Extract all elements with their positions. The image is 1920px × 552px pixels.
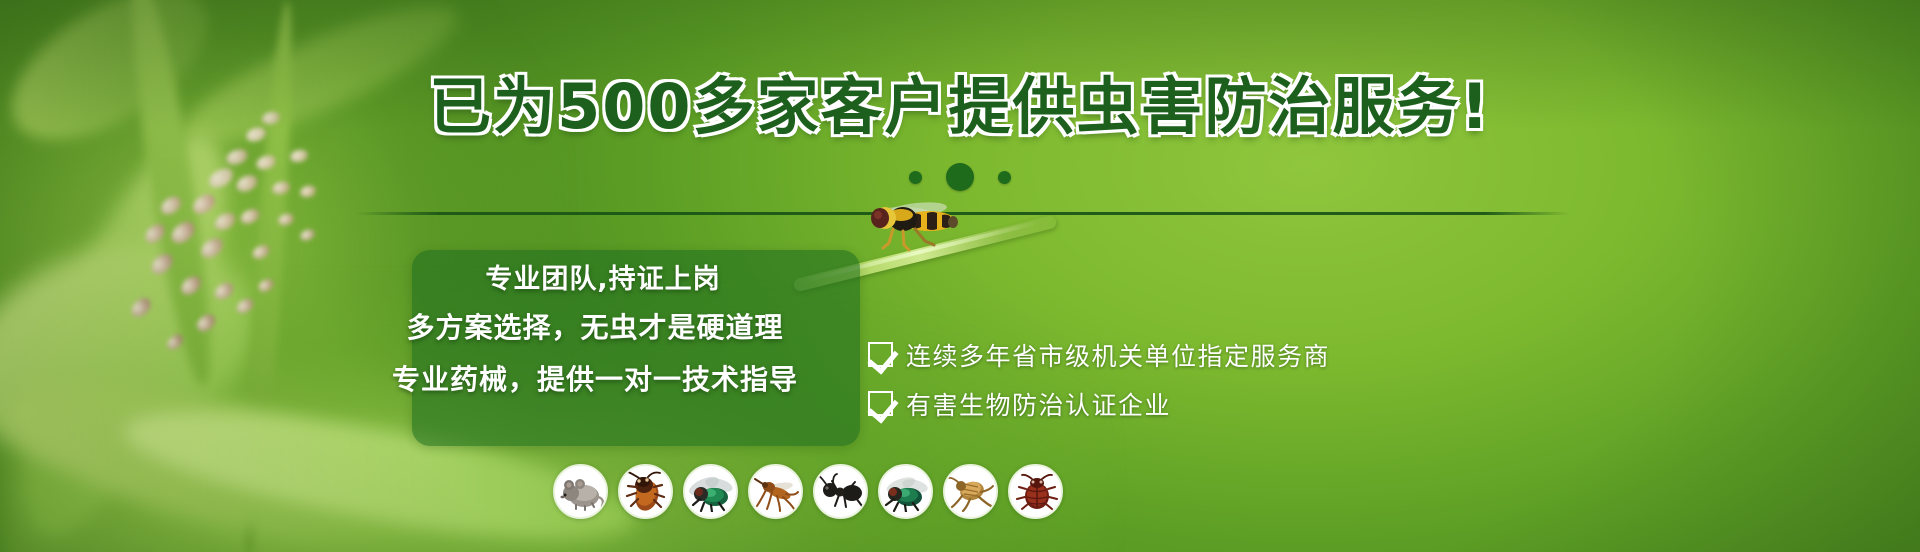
ant-icon[interactable] — [813, 464, 868, 519]
checkbox-checked-icon — [868, 342, 893, 367]
bedbug-icon[interactable] — [1008, 464, 1063, 519]
greenfly-icon[interactable] — [878, 464, 933, 519]
cockroach-icon[interactable] — [618, 464, 673, 519]
checklist-item-label: 有害生物防治认证企业 — [906, 386, 1171, 422]
flea-icon[interactable] — [943, 464, 998, 519]
hoverfly-icon — [845, 196, 965, 258]
dots-ornament — [0, 163, 1920, 191]
pest-icon-strip — [553, 464, 1063, 519]
checklist-item-label: 连续多年省市级机关单位指定服务商 — [906, 337, 1330, 373]
copy-line-1: 专业团队,持证上岗 — [346, 258, 860, 302]
checklist-item: 连续多年省市级机关单位指定服务商 — [868, 330, 1330, 379]
dot-small-icon — [909, 171, 922, 184]
checklist-item: 有害生物防治认证企业 — [868, 379, 1330, 428]
dot-small-icon — [998, 171, 1011, 184]
copy-line-3: 专业药械，提供一对一技术指导 — [330, 354, 860, 406]
mouse-icon[interactable] — [553, 464, 608, 519]
checkbox-checked-icon — [868, 391, 893, 416]
dot-large-icon — [946, 163, 974, 191]
checklist: 连续多年省市级机关单位指定服务商 有害生物防治认证企业 — [868, 330, 1330, 428]
copy-line-2: 多方案选择，无虫才是硬道理 — [330, 302, 860, 354]
copy-panel-text: 专业团队,持证上岗 多方案选择，无虫才是硬道理 专业药械，提供一对一技术指导 — [330, 258, 860, 406]
mosquito-icon[interactable] — [748, 464, 803, 519]
housefly-icon[interactable] — [683, 464, 738, 519]
page-title: 已为500多家客户提供虫害防治服务! — [0, 76, 1920, 138]
pest-control-hero-banner: 已为500多家客户提供虫害防治服务! 专业团队,持证上岗 多方案选择，无虫才是硬… — [0, 0, 1920, 552]
